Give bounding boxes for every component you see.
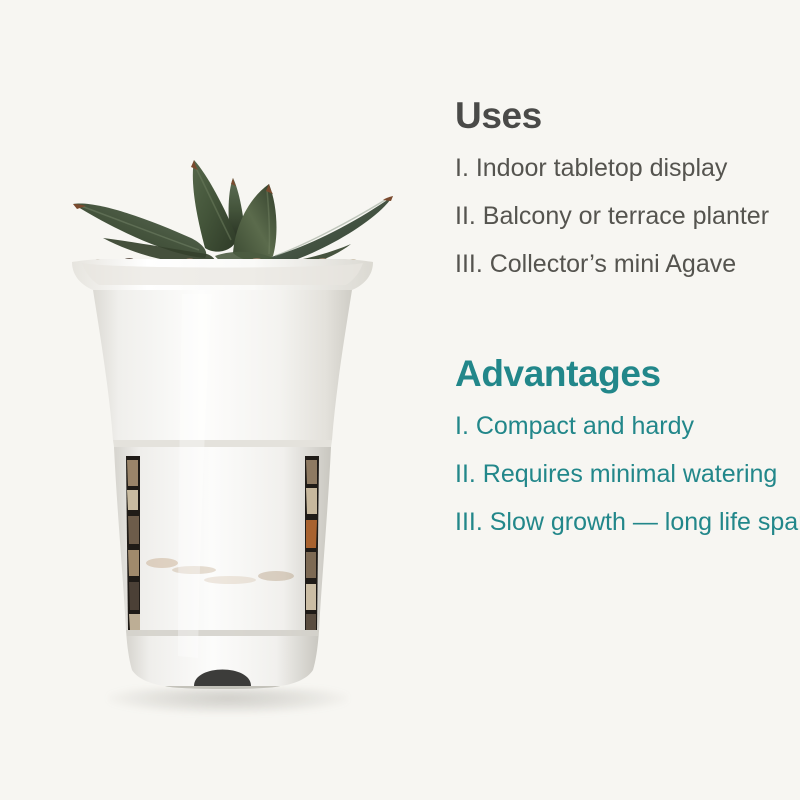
- ceramic-pot: [70, 258, 375, 704]
- pot-ridge: [113, 440, 332, 447]
- pot-svg: [70, 258, 375, 704]
- uses-item-3: III. Collector’s mini Agave: [455, 252, 800, 277]
- advantages-item-3: III. Slow growth — long life span: [455, 510, 800, 535]
- pot-drainage-slot-right: [305, 456, 319, 630]
- uses-heading: Uses: [455, 97, 800, 134]
- advantages-block: Advantages I. Compact and hardy II. Requ…: [455, 355, 800, 535]
- pot-upper-body: [93, 290, 352, 440]
- advantages-list: I. Compact and hardy II. Requires minima…: [455, 414, 800, 535]
- infographic-canvas: Uses I. Indoor tabletop display II. Balc…: [0, 0, 800, 800]
- advantages-item-1: I. Compact and hardy: [455, 414, 800, 439]
- uses-list: I. Indoor tabletop display II. Balcony o…: [455, 156, 800, 277]
- uses-item-1: I. Indoor tabletop display: [455, 156, 800, 181]
- advantages-heading: Advantages: [455, 355, 800, 392]
- pot-drainage-slot-left: [126, 456, 140, 630]
- pot-lower-body: [114, 447, 331, 630]
- uses-item-2: II. Balcony or terrace planter: [455, 204, 800, 229]
- plant-photo: [0, 0, 430, 800]
- text-column: Uses I. Indoor tabletop display II. Balc…: [455, 0, 800, 800]
- uses-block: Uses I. Indoor tabletop display II. Balc…: [455, 97, 800, 277]
- advantages-item-2: II. Requires minimal watering: [455, 462, 800, 487]
